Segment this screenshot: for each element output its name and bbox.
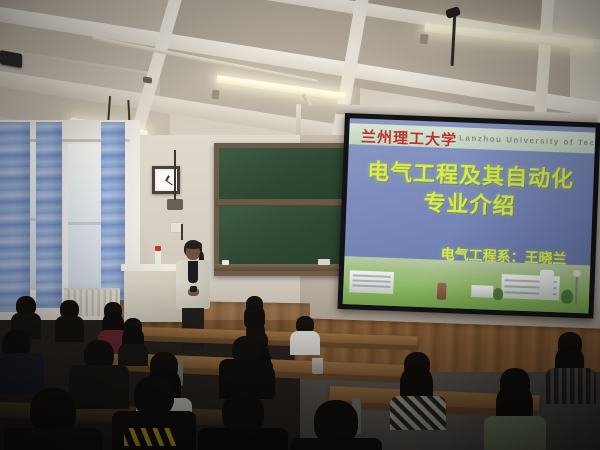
bottle-cap	[155, 246, 161, 251]
tshirt-graphic	[124, 428, 176, 446]
wall-cable	[174, 150, 176, 200]
water-bottle[interactable]	[155, 250, 161, 265]
blackboard-rail	[217, 199, 361, 205]
chalk-piece[interactable]	[222, 260, 229, 265]
projector-screen: 兰州理工大学 Lanzhou University of Technology …	[337, 113, 600, 319]
campus-tree-1	[493, 288, 503, 300]
blackboard-upper-panel	[219, 148, 359, 200]
campus-panorama	[343, 256, 591, 313]
campus-tower	[539, 269, 554, 300]
campus-lamp-head	[573, 270, 581, 277]
wall-mounted-device	[167, 199, 183, 210]
paper-cup[interactable]	[312, 358, 323, 374]
presenter-clicker[interactable]	[190, 286, 197, 292]
campus-building-mid	[471, 285, 493, 298]
presentation-slide: 兰州理工大学 Lanzhou University of Technology …	[343, 118, 596, 313]
presenter-inner-top	[188, 261, 198, 283]
curtain-mid[interactable]	[36, 122, 62, 308]
podium	[124, 268, 182, 322]
university-name-cn: 兰州理工大学	[361, 126, 458, 151]
lecture-hall-photo: 兰州理工大学 Lanzhou University of Technology …	[0, 0, 600, 450]
curtain-left[interactable]	[0, 122, 30, 312]
campus-tree-2	[561, 290, 574, 304]
eraser[interactable]	[318, 259, 330, 265]
campus-monument	[437, 283, 447, 300]
curtain-right[interactable]	[101, 122, 125, 312]
blackboard-lower-panel	[219, 206, 359, 264]
campus-building-left	[349, 271, 394, 295]
